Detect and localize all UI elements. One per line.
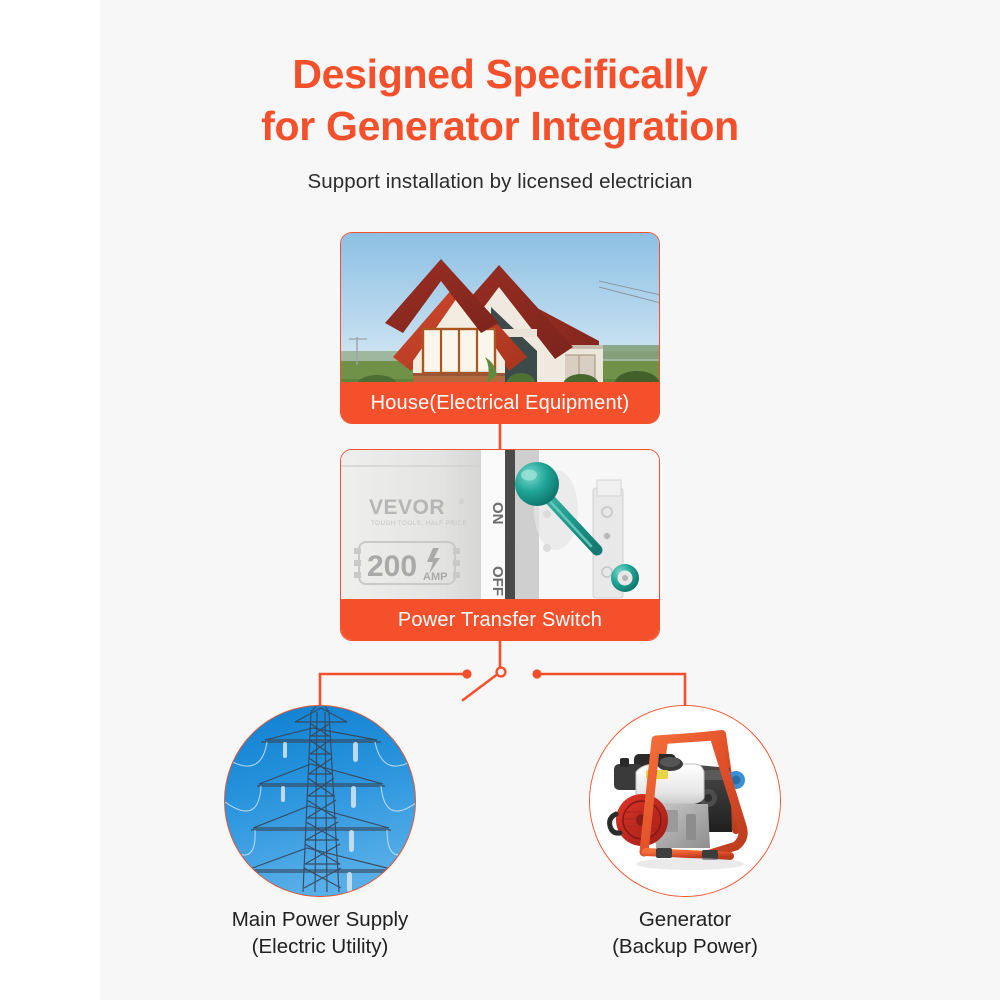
generator-caption-line-2: (Backup Power) [525,933,845,960]
switch-lever [463,673,499,700]
header: Designed Specifically for Generator Inte… [0,48,1000,194]
svg-text:ON: ON [489,502,506,525]
headline-line-1: Designed Specifically [0,48,1000,100]
utility-caption-line-2: (Electric Utility) [160,933,480,960]
page-title: Designed Specifically for Generator Inte… [0,48,1000,153]
node-main-power-supply-caption: Main Power Supply (Electric Utility) [160,906,480,961]
svg-text:TOUGH TOOLS, HALF PRICE: TOUGH TOOLS, HALF PRICE [371,520,467,527]
generator-caption-line-1: Generator [525,906,845,933]
switch-pivot-icon [497,668,506,677]
contact-dot-right [532,669,541,678]
node-house[interactable]: House(Electrical Equipment) [340,232,660,424]
svg-text:AMP: AMP [423,571,447,583]
node-transfer-switch[interactable]: VEVOR ® TOUGH TOOLS, HALF PRICE 200 AMP … [340,449,660,641]
node-main-power-supply[interactable] [224,705,416,897]
node-house-label: House(Electrical Equipment) [340,382,660,424]
svg-text:OFF: OFF [489,566,506,596]
transmission-tower-photo [225,706,416,897]
page-subtitle: Support installation by licensed electri… [0,170,1000,194]
svg-text:VEVOR: VEVOR [369,496,445,519]
utility-caption-line-1: Main Power Supply [160,906,480,933]
svg-text:®: ® [459,498,465,506]
page-root: Designed Specifically for Generator Inte… [0,0,1000,1000]
contact-dot-left [462,669,471,678]
node-generator[interactable] [589,705,781,897]
headline-line-2: for Generator Integration [0,100,1000,152]
portable-generator-photo [590,706,781,897]
node-transfer-switch-label: Power Transfer Switch [340,599,660,641]
node-generator-caption: Generator (Backup Power) [525,906,845,961]
svg-text:200: 200 [367,550,417,583]
